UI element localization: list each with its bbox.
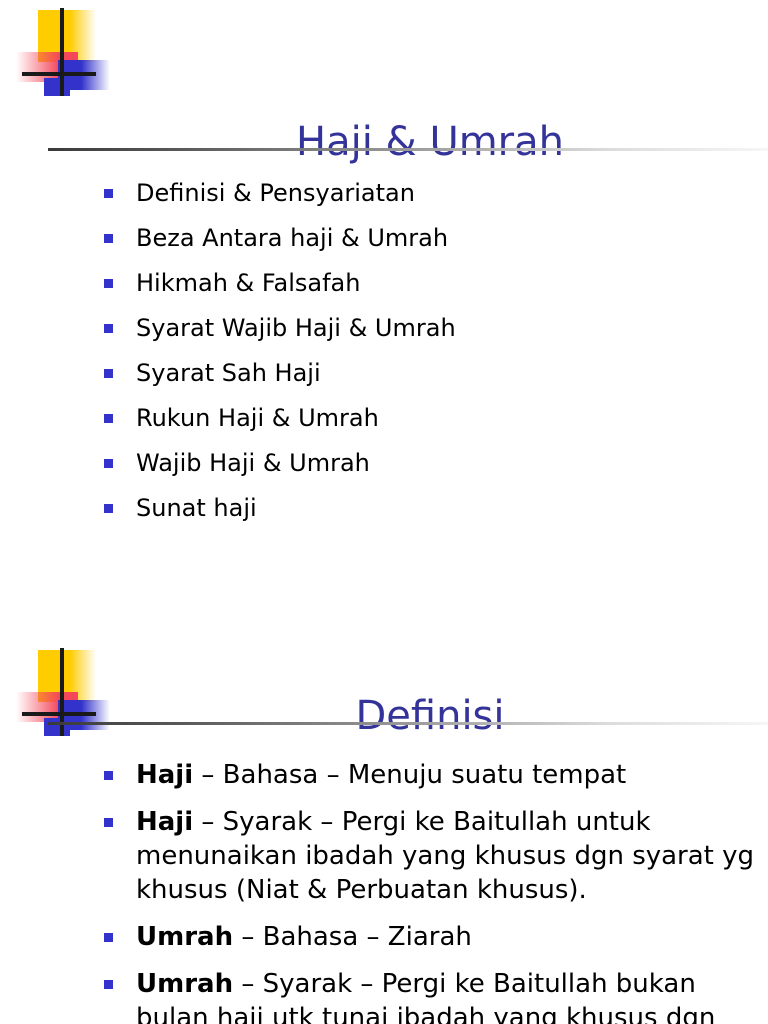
list-item: Syarat Sah Haji xyxy=(104,358,768,388)
slide-2: Definisi Haji – Bahasa – Menuju suatu te… xyxy=(0,640,768,1024)
bullet-square-icon xyxy=(104,414,113,423)
list-item-label: Sunat haji xyxy=(136,493,768,523)
list-item-term: Umrah xyxy=(136,922,233,952)
list-item: Definisi & Pensyariatan xyxy=(104,178,768,208)
list-item-label: Haji – Syarak – Pergi ke Baitullah untuk… xyxy=(136,805,768,907)
decorative-logo xyxy=(16,8,112,96)
slide-1: Haji & Umrah Definisi & Pensyariatan Bez… xyxy=(0,0,768,640)
logo-blue-square xyxy=(44,718,70,736)
list-item-label: Wajib Haji & Umrah xyxy=(136,448,768,478)
bullet-square-icon xyxy=(104,324,113,333)
bullet-square-icon xyxy=(104,980,113,989)
bullet-square-icon xyxy=(104,504,113,513)
list-item-label: Umrah – Bahasa – Ziarah xyxy=(136,920,768,954)
document-page: Haji & Umrah Definisi & Pensyariatan Bez… xyxy=(0,0,768,1024)
bullet-square-icon xyxy=(104,189,113,198)
list-item: Rukun Haji & Umrah xyxy=(104,403,768,433)
slide-1-bullet-list: Definisi & Pensyariatan Beza Antara haji… xyxy=(104,178,768,538)
list-item-term: Haji xyxy=(136,807,193,837)
bullet-square-icon xyxy=(104,369,113,378)
bullet-square-icon xyxy=(104,459,113,468)
logo-horizontal-line xyxy=(22,72,96,76)
list-item: Haji – Syarak – Pergi ke Baitullah untuk… xyxy=(104,805,768,907)
bullet-square-icon xyxy=(104,933,113,942)
list-item: Sunat haji xyxy=(104,493,768,523)
list-item-label: Umrah – Syarak – Pergi ke Baitullah buka… xyxy=(136,967,768,1024)
list-item-label: Haji – Bahasa – Menuju suatu tempat xyxy=(136,758,768,792)
bullet-square-icon xyxy=(104,771,113,780)
list-item-label: Syarat Sah Haji xyxy=(136,358,768,388)
list-item-label: Beza Antara haji & Umrah xyxy=(136,223,768,253)
list-item: Umrah – Bahasa – Ziarah xyxy=(104,920,768,954)
list-item-label: Hikmah & Falsafah xyxy=(136,268,768,298)
list-item: Umrah – Syarak – Pergi ke Baitullah buka… xyxy=(104,967,768,1024)
bullet-square-icon xyxy=(104,818,113,827)
slide-2-title-rule xyxy=(48,722,768,725)
list-item: Syarat Wajib Haji & Umrah xyxy=(104,313,768,343)
list-item-label: Syarat Wajib Haji & Umrah xyxy=(136,313,768,343)
list-item: Beza Antara haji & Umrah xyxy=(104,223,768,253)
slide-1-title-rule xyxy=(48,148,768,151)
list-item-definition: – Bahasa – Menuju suatu tempat xyxy=(193,760,626,790)
logo-horizontal-line xyxy=(22,712,96,716)
slide-2-title: Definisi xyxy=(120,693,740,739)
list-item: Hikmah & Falsafah xyxy=(104,268,768,298)
list-item-definition: – Syarak – Pergi ke Baitullah untuk menu… xyxy=(136,807,754,905)
slide-1-title: Haji & Umrah xyxy=(120,119,740,165)
bullet-square-icon xyxy=(104,279,113,288)
list-item-term: Haji xyxy=(136,760,193,790)
list-item: Haji – Bahasa – Menuju suatu tempat xyxy=(104,758,768,792)
logo-blue-square xyxy=(44,78,70,96)
bullet-square-icon xyxy=(104,234,113,243)
slide-2-bullet-list: Haji – Bahasa – Menuju suatu tempat Haji… xyxy=(104,758,768,1024)
list-item: Wajib Haji & Umrah xyxy=(104,448,768,478)
list-item-label: Rukun Haji & Umrah xyxy=(136,403,768,433)
list-item-term: Umrah xyxy=(136,969,233,999)
list-item-label: Definisi & Pensyariatan xyxy=(136,178,768,208)
logo-vertical-line xyxy=(60,8,64,96)
list-item-definition: – Bahasa – Ziarah xyxy=(233,922,472,952)
